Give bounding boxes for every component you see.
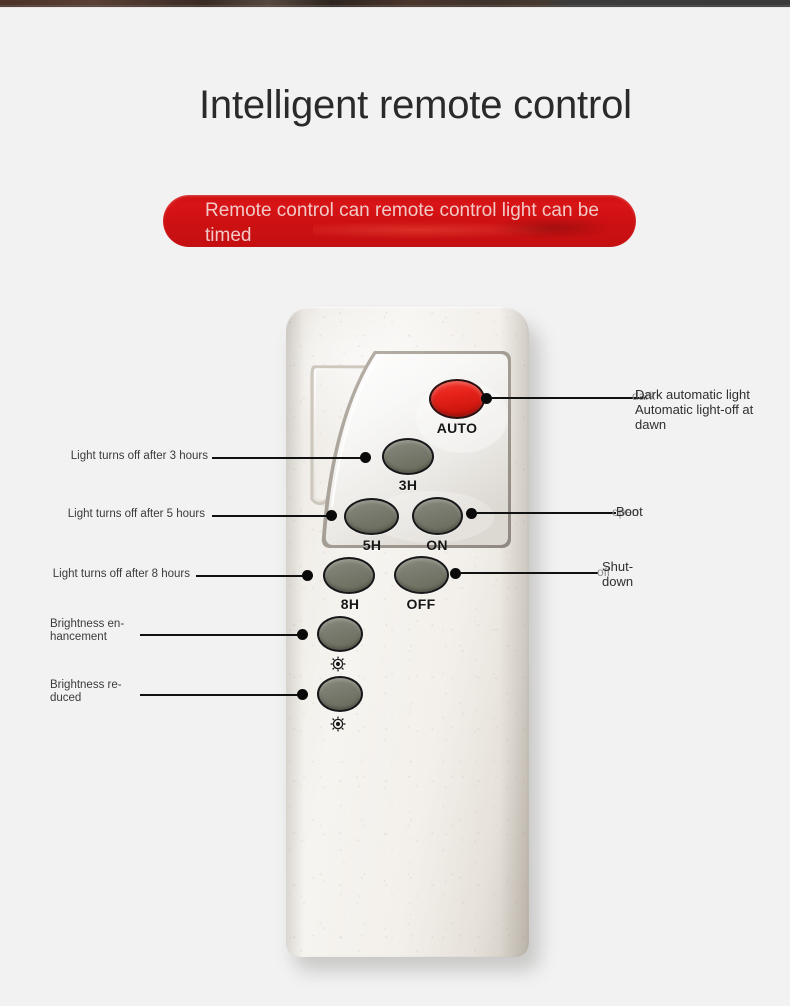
callout-line-brightness-down [140,694,300,696]
button-8h[interactable] [323,557,375,594]
callout-dot-auto [481,393,492,404]
button-off[interactable] [394,556,449,594]
callout-label-on-over: Boot [616,504,643,519]
subtitle-pill: Remote control can remote control light … [163,195,636,247]
callout-line-timer-8h [196,575,306,577]
button-on-label: ON [403,537,471,553]
button-5h[interactable] [344,498,399,535]
callout-line-timer-3h [212,457,364,459]
callout-label-brightness-up: Brightness en- hancement [50,618,142,644]
callout-label-auto: dark Dark automatic light Automatic ligh… [632,389,782,429]
top-image-strip [0,0,790,7]
button-auto[interactable] [429,379,485,419]
remote-control-image: AUTO 3H 5H ON 8H OFF [286,307,538,962]
callout-label-timer-8h: Light turns off after 8 hours [0,568,190,581]
sun-plus-icon [330,656,346,677]
callout-dot-off [450,568,461,579]
button-off-label: OFF [387,596,455,612]
callout-dot-brightness-down [297,689,308,700]
button-3h[interactable] [382,438,434,475]
callout-label-brightness-up-line2: hancement [50,631,142,644]
button-5h-label: 5H [338,537,406,553]
callout-label-timer-3h: Light turns off after 3 hours [0,450,208,463]
sun-minus-icon [330,716,346,737]
callout-dot-on [466,508,477,519]
callout-label-brightness-down-line1: Brightness re- [50,679,142,692]
callout-label-auto-over: Dark automatic light Automatic light-off… [635,387,767,432]
subtitle-pill-text: Remote control can remote control light … [205,198,615,247]
callout-dot-brightness-up [297,629,308,640]
callout-line-brightness-up [140,634,300,636]
button-on[interactable] [412,497,463,535]
remote-body: AUTO 3H 5H ON 8H OFF [286,307,529,957]
callout-line-timer-5h [212,515,330,517]
callout-label-off-over: Shut-down [602,559,652,589]
callout-dot-timer-5h [326,510,337,521]
page-root: Intelligent remote control Remote contro… [0,0,790,1006]
callout-line-auto [492,397,645,399]
callout-dot-timer-3h [360,452,371,463]
page-title: Intelligent remote control [199,80,639,130]
callout-label-timer-5h: Light turns off after 5 hours [0,508,205,521]
callout-label-off: off Shut-down [597,565,717,593]
button-brightness-down[interactable] [317,676,363,712]
callout-label-brightness-down-line2: duced [50,692,142,705]
callout-line-off [461,572,598,574]
button-auto-label: AUTO [419,420,495,436]
callout-label-brightness-up-line1: Brightness en- [50,618,142,631]
button-8h-label: 8H [316,596,384,612]
callout-line-on [477,512,616,514]
button-3h-label: 3H [374,477,442,493]
callout-dot-timer-8h [302,570,313,581]
button-brightness-up[interactable] [317,616,363,652]
callout-label-on: open Boot [612,505,732,525]
callout-label-brightness-down: Brightness re- duced [50,679,142,705]
